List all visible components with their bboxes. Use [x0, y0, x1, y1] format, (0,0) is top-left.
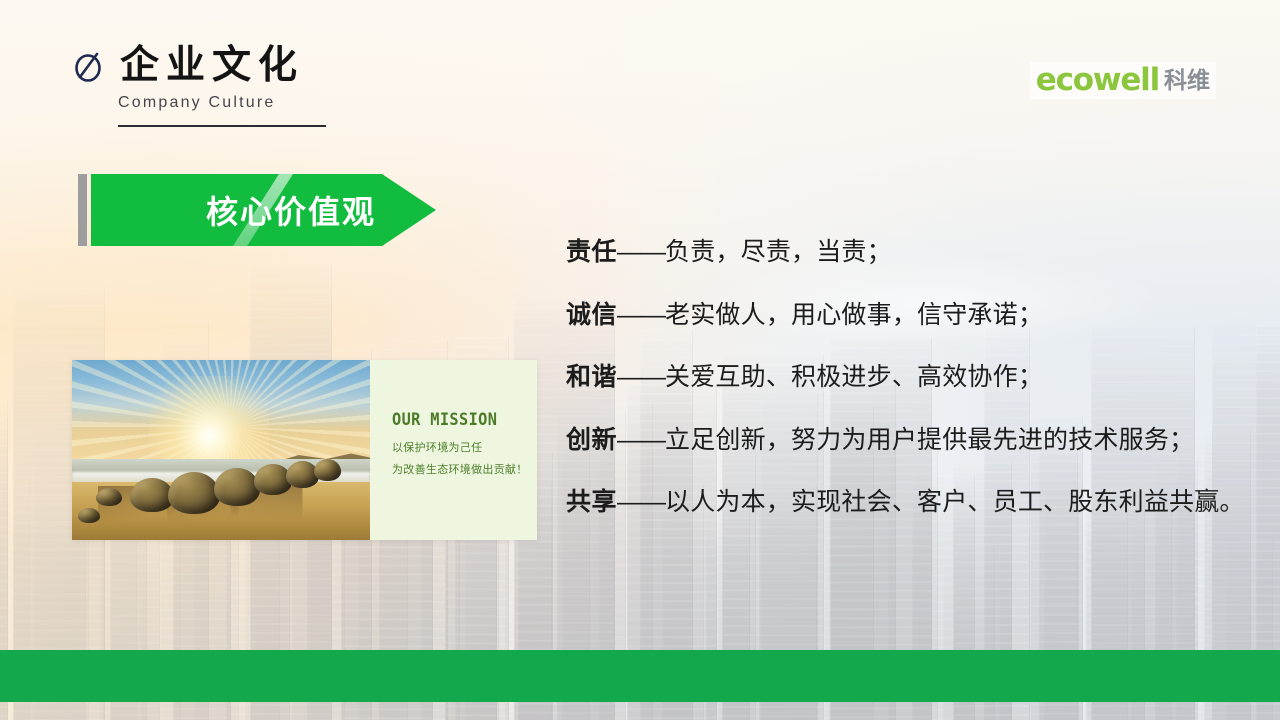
value-dash: ——: [617, 301, 665, 331]
header-title-row: 企业文化: [72, 46, 326, 85]
value-description: 以人为本，实现社会、客户、员工、股东利益共赢。: [665, 488, 1245, 518]
core-values-list: 责任——负责，尽责，当责；诚信——老实做人，用心做事，信守承诺；和谐——关爱互助…: [566, 238, 1266, 518]
value-description: 立足创新，努力为用户提供最先进的技术服务；: [665, 426, 1194, 456]
photo-boulder: [314, 459, 341, 481]
photo-boulder: [78, 508, 100, 523]
mission-photo: [72, 360, 370, 540]
value-term: 诚信: [566, 301, 617, 331]
value-description: 关爱互助、积极进步、高效协作；: [665, 363, 1043, 393]
slash-circle-icon: [72, 49, 106, 83]
section-banner: 核心价值观: [78, 174, 436, 246]
value-row: 和谐——关爱互助、积极进步、高效协作；: [566, 363, 1266, 393]
page-header: 企业文化 Company Culture: [72, 46, 326, 127]
value-row: 诚信——老实做人，用心做事，信守承诺；: [566, 301, 1266, 331]
photo-boulder: [168, 472, 220, 514]
value-row: 责任——负责，尽责，当责；: [566, 238, 1266, 268]
page-subtitle: Company Culture: [118, 94, 326, 112]
mission-card: OUR MISSION 以保护环境为己任 为改善生态环境做出贡献！: [72, 360, 537, 540]
value-dash: ——: [617, 488, 665, 518]
brand-logo: ecowell 科维: [1030, 62, 1216, 99]
banner-gray-accent: [78, 174, 87, 246]
value-term: 和谐: [566, 363, 617, 393]
value-term: 共享: [566, 488, 617, 518]
value-dash: ——: [617, 238, 665, 268]
mission-line-2: 为改善生态环境做出贡献！: [392, 464, 537, 477]
page-title: 企业文化: [120, 46, 304, 85]
photo-boulder: [96, 488, 122, 506]
mission-text-block: OUR MISSION 以保护环境为己任 为改善生态环境做出贡献！: [370, 360, 537, 540]
value-description: 负责，尽责，当责；: [665, 238, 892, 268]
title-divider: [118, 125, 326, 127]
brand-name-cn: 科维: [1164, 69, 1210, 92]
section-banner-label: 核心价值观: [206, 174, 376, 246]
value-row: 共享——以人为本，实现社会、客户、员工、股东利益共赢。: [566, 488, 1266, 518]
slide-root: 企业文化 Company Culture ecowell 科维 核心价值观: [0, 0, 1280, 720]
mission-line-1: 以保护环境为己任: [392, 442, 537, 455]
value-dash: ——: [617, 426, 665, 456]
mission-heading: OUR MISSION: [392, 412, 523, 429]
value-description: 老实做人，用心做事，信守承诺；: [665, 301, 1043, 331]
value-term: 责任: [566, 238, 617, 268]
value-row: 创新——立足创新，努力为用户提供最先进的技术服务；: [566, 426, 1266, 456]
footer-bar: [0, 650, 1280, 702]
value-dash: ——: [617, 363, 665, 393]
photo-boulder: [214, 468, 260, 506]
value-term: 创新: [566, 426, 617, 456]
brand-name-en: ecowell: [1036, 65, 1159, 96]
